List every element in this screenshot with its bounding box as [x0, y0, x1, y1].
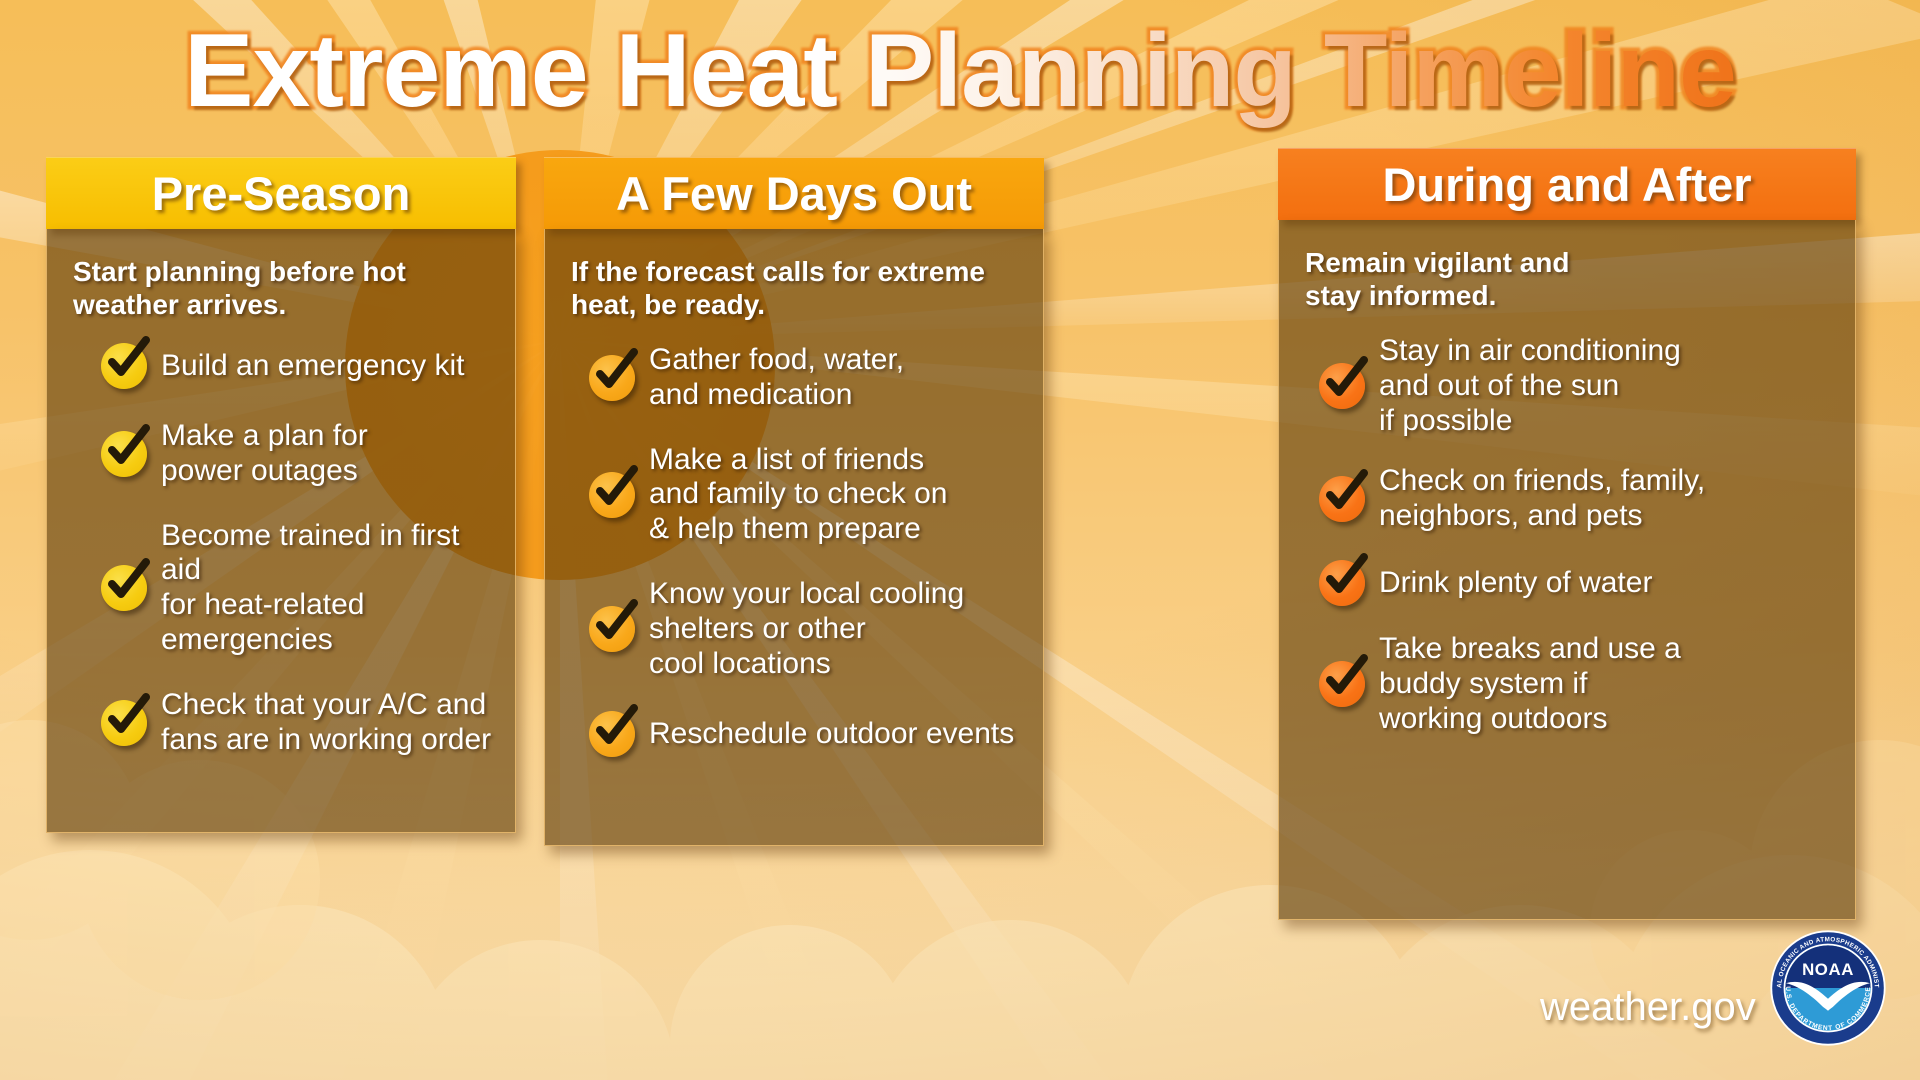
check-circle-icon: [101, 565, 147, 611]
list-item: Make a list of friends and family to che…: [589, 443, 1023, 547]
page-title-text: Extreme Heat Planning Timeline: [184, 13, 1736, 129]
panel-header-label: During and After: [1382, 161, 1751, 208]
panel-body-during-and-after: Remain vigilant and stay informed. Stay …: [1278, 220, 1856, 920]
check-circle-icon: [589, 711, 635, 757]
list-item: Reschedule outdoor events: [589, 711, 1023, 757]
panel-intro-text: Remain vigilant and stay informed.: [1305, 246, 1835, 312]
check-circle-icon: [1319, 363, 1365, 409]
panel-body-pre-season: Start planning before hot weather arrive…: [46, 229, 516, 833]
weather-gov-label: weather.gov: [1540, 985, 1756, 1030]
list-item: Make a plan for power outages: [101, 419, 495, 489]
panel-header-a-few-days-out: A Few Days Out: [544, 157, 1044, 229]
checklist-a-few-days-out: Gather food, water, and medication Make …: [589, 343, 1023, 757]
checklist-pre-season: Build an emergency kit Make a plan for p…: [101, 343, 495, 757]
check-circle-icon: [101, 343, 147, 389]
check-circle-icon: [1319, 661, 1365, 707]
check-circle-icon: [589, 355, 635, 401]
list-item-label: Know your local cooling shelters or othe…: [649, 577, 964, 681]
list-item: Become trained in first aid for heat-rel…: [101, 519, 495, 658]
check-circle-icon: [1319, 476, 1365, 522]
list-item: Stay in air conditioning and out of the …: [1319, 334, 1835, 438]
check-circle-icon: [589, 606, 635, 652]
panel-a-few-days-out: A Few Days Out If the forecast calls for…: [544, 157, 1044, 846]
panel-during-and-after: During and After Remain vigilant and sta…: [1278, 148, 1856, 920]
panel-header-label: A Few Days Out: [616, 170, 972, 217]
list-item-label: Become trained in first aid for heat-rel…: [161, 519, 495, 658]
list-item-label: Gather food, water, and medication: [649, 343, 904, 413]
list-item: Take breaks and use a buddy system if wo…: [1319, 632, 1835, 736]
infographic-canvas: Extreme Heat Planning Timeline Extreme H…: [0, 0, 1920, 1080]
list-item: Check on friends, family, neighbors, and…: [1319, 464, 1835, 534]
panel-pre-season: Pre-Season Start planning before hot wea…: [46, 157, 516, 833]
list-item: Check that your A/C and fans are in work…: [101, 688, 495, 758]
noaa-logo: NOAA NATIONAL OCEANIC AND ATMOSPHERIC AD…: [1768, 928, 1888, 1048]
list-item-label: Make a list of friends and family to che…: [649, 443, 948, 547]
check-circle-icon: [1319, 560, 1365, 606]
check-circle-icon: [589, 472, 635, 518]
list-item: Know your local cooling shelters or othe…: [589, 577, 1023, 681]
list-item-label: Make a plan for power outages: [161, 419, 368, 489]
panel-body-a-few-days-out: If the forecast calls for extreme heat, …: [544, 229, 1044, 846]
panel-intro-text: Start planning before hot weather arrive…: [73, 255, 495, 321]
panel-intro-text: If the forecast calls for extreme heat, …: [571, 255, 1023, 321]
list-item-label: Take breaks and use a buddy system if wo…: [1379, 632, 1681, 736]
page-title: Extreme Heat Planning Timeline: [0, 10, 1920, 133]
list-item: Drink plenty of water: [1319, 560, 1835, 606]
check-circle-icon: [101, 431, 147, 477]
check-circle-icon: [101, 700, 147, 746]
list-item-label: Reschedule outdoor events: [649, 717, 1014, 752]
list-item-label: Stay in air conditioning and out of the …: [1379, 334, 1681, 438]
list-item: Build an emergency kit: [101, 343, 495, 389]
panel-header-pre-season: Pre-Season: [46, 157, 516, 229]
panel-header-during-and-after: During and After: [1278, 148, 1856, 220]
svg-text:NOAA: NOAA: [1802, 960, 1854, 979]
list-item-label: Check that your A/C and fans are in work…: [161, 688, 491, 758]
panel-header-label: Pre-Season: [152, 170, 411, 217]
list-item-label: Check on friends, family, neighbors, and…: [1379, 464, 1705, 534]
list-item-label: Build an emergency kit: [161, 349, 465, 384]
checklist-during-and-after: Stay in air conditioning and out of the …: [1319, 334, 1835, 736]
list-item-label: Drink plenty of water: [1379, 566, 1652, 601]
list-item: Gather food, water, and medication: [589, 343, 1023, 413]
